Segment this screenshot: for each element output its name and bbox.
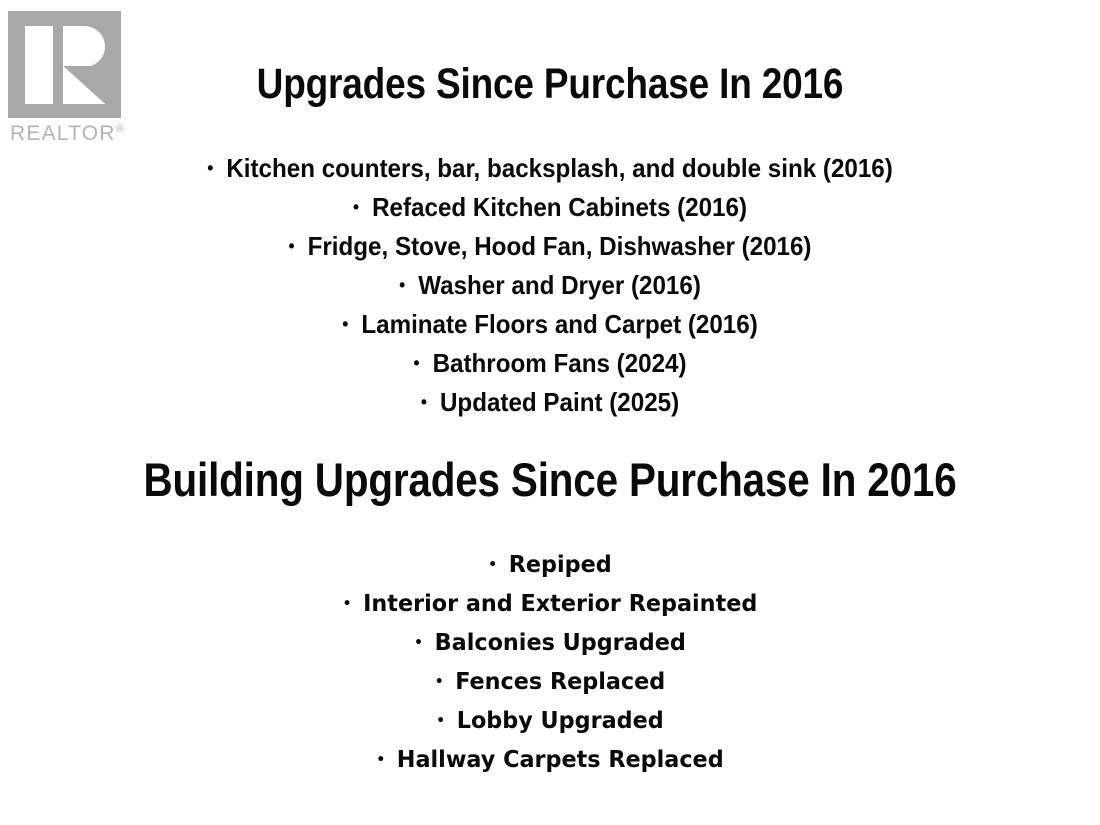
bullet-icon: • — [413, 343, 419, 382]
list-item-label: Washer and Dryer (2016) — [418, 270, 701, 300]
list-item: •Bathroom Fans (2024) — [39, 343, 1062, 382]
list-item: •Hallway Carpets Replaced — [17, 741, 1084, 780]
bullet-icon: • — [399, 265, 405, 304]
bullet-icon: • — [288, 226, 294, 265]
list-item: •Lobby Upgraded — [17, 702, 1084, 741]
unit-upgrades-list: •Kitchen counters, bar, backsplash, and … — [0, 148, 1100, 421]
bullet-icon: • — [436, 702, 445, 741]
list-item: •Repiped — [17, 546, 1084, 585]
bullet-icon: • — [488, 546, 497, 585]
slide-canvas: REALTOR® Upgrades Since Purchase In 2016… — [0, 0, 1100, 825]
list-item-label: Bathroom Fans (2024) — [433, 348, 687, 378]
bullet-icon: • — [435, 663, 444, 702]
list-item-label: Repiped — [509, 552, 612, 578]
list-item-label: Updated Paint (2025) — [440, 387, 679, 417]
realtor-wordmark-text: REALTOR — [10, 122, 116, 145]
list-item: •Fridge, Stove, Hood Fan, Dishwasher (20… — [39, 226, 1062, 265]
list-item: •Laminate Floors and Carpet (2016) — [39, 304, 1062, 343]
list-item-label: Laminate Floors and Carpet (2016) — [361, 309, 757, 339]
registered-trademark-icon: ® — [116, 123, 124, 135]
list-item: •Balconies Upgraded — [17, 624, 1084, 663]
list-item: •Interior and Exterior Repainted — [17, 585, 1084, 624]
list-item-label: Interior and Exterior Repainted — [363, 591, 757, 617]
list-item: •Kitchen counters, bar, backsplash, and … — [39, 148, 1062, 187]
list-item-label: Kitchen counters, bar, backsplash, and d… — [226, 153, 892, 183]
realtor-r-stem — [25, 26, 53, 104]
bullet-icon: • — [342, 304, 348, 343]
list-item-label: Balconies Upgraded — [435, 630, 686, 656]
list-item: •Refaced Kitchen Cabinets (2016) — [39, 187, 1062, 226]
list-item-label: Refaced Kitchen Cabinets (2016) — [372, 192, 747, 222]
building-upgrades-list: •Repiped •Interior and Exterior Repainte… — [0, 546, 1100, 780]
bullet-icon: • — [353, 187, 359, 226]
bullet-icon: • — [421, 382, 427, 421]
list-item-label: Hallway Carpets Replaced — [397, 747, 724, 773]
bullet-icon: • — [343, 585, 352, 624]
bullet-icon: • — [376, 741, 385, 780]
list-item-label: Lobby Upgraded — [457, 708, 664, 734]
bullet-icon: • — [414, 624, 423, 663]
section-title-building: Building Upgrades Since Purchase In 2016 — [77, 452, 1023, 507]
list-item: •Fences Replaced — [17, 663, 1084, 702]
realtor-wordmark: REALTOR® — [10, 123, 124, 144]
page-title: Upgrades Since Purchase In 2016 — [77, 60, 1023, 109]
list-item-label: Fences Replaced — [455, 669, 665, 695]
list-item: •Updated Paint (2025) — [39, 382, 1062, 421]
list-item-label: Fridge, Stove, Hood Fan, Dishwasher (201… — [308, 231, 812, 261]
bullet-icon: • — [207, 148, 213, 187]
list-item: •Washer and Dryer (2016) — [39, 265, 1062, 304]
